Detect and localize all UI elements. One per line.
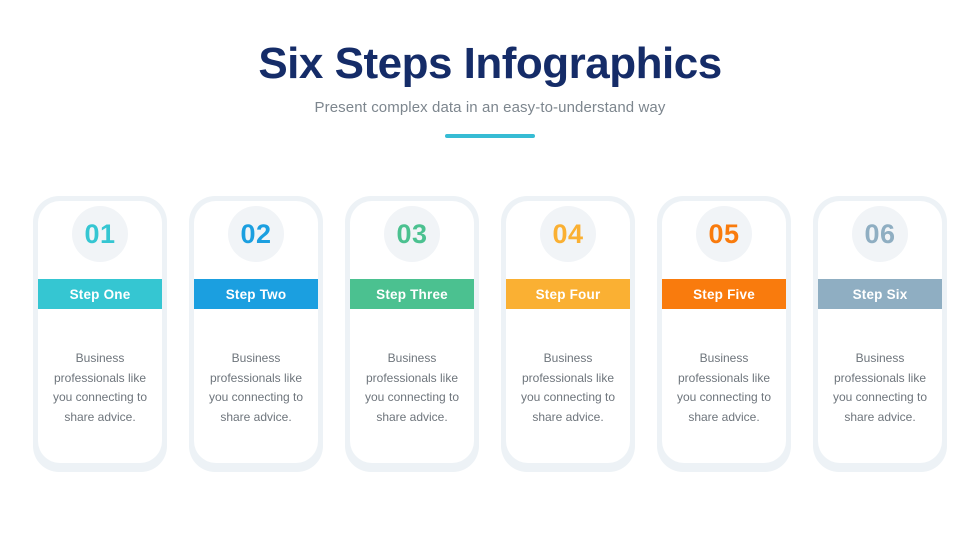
- step-title: Step Six: [853, 287, 908, 302]
- step-card-inner: 06 Step Six Business professionals like …: [818, 201, 942, 463]
- step-description: Business professionals like you connecti…: [669, 349, 779, 427]
- step-number-badge: 01: [72, 206, 128, 262]
- step-number-badge: 02: [228, 206, 284, 262]
- step-banner[interactable]: Step Two: [194, 279, 318, 309]
- step-description: Business professionals like you connecti…: [825, 349, 935, 427]
- step-card-inner: 01 Step One Business professionals like …: [38, 201, 162, 463]
- page-subtitle: Present complex data in an easy-to-under…: [0, 98, 980, 118]
- step-number: 03: [396, 221, 427, 248]
- step-number-badge: 03: [384, 206, 440, 262]
- step-description: Business professionals like you connecti…: [357, 349, 467, 427]
- slide-header: Six Steps Infographics Present complex d…: [0, 38, 980, 138]
- step-number-badge: 05: [696, 206, 752, 262]
- step-card-4[interactable]: 04 Step Four Business professionals like…: [501, 196, 635, 472]
- step-description: Business professionals like you connecti…: [45, 349, 155, 427]
- step-card-inner: 02 Step Two Business professionals like …: [194, 201, 318, 463]
- step-number: 04: [552, 221, 583, 248]
- step-banner[interactable]: Step One: [38, 279, 162, 309]
- step-banner[interactable]: Step Three: [350, 279, 474, 309]
- step-card-inner: 05 Step Five Business professionals like…: [662, 201, 786, 463]
- step-card-1[interactable]: 01 Step One Business professionals like …: [33, 196, 167, 472]
- step-title: Step Three: [376, 287, 448, 302]
- step-title: Step Two: [226, 287, 287, 302]
- step-card-2[interactable]: 02 Step Two Business professionals like …: [189, 196, 323, 472]
- step-number-badge: 04: [540, 206, 596, 262]
- infographic-slide: Six Steps Infographics Present complex d…: [0, 0, 980, 551]
- step-number-badge: 06: [852, 206, 908, 262]
- title-divider: [445, 134, 535, 138]
- page-title: Six Steps Infographics: [0, 38, 980, 90]
- step-card-inner: 03 Step Three Business professionals lik…: [350, 201, 474, 463]
- step-title: Step Four: [536, 287, 601, 302]
- step-number: 06: [864, 221, 895, 248]
- step-card-6[interactable]: 06 Step Six Business professionals like …: [813, 196, 947, 472]
- step-number: 02: [240, 221, 271, 248]
- step-number: 01: [84, 221, 115, 248]
- step-banner[interactable]: Step Five: [662, 279, 786, 309]
- step-card-5[interactable]: 05 Step Five Business professionals like…: [657, 196, 791, 472]
- title-divider-wrap: [0, 134, 980, 138]
- step-title: Step Five: [693, 287, 755, 302]
- step-card-3[interactable]: 03 Step Three Business professionals lik…: [345, 196, 479, 472]
- step-card-inner: 04 Step Four Business professionals like…: [506, 201, 630, 463]
- steps-row: 01 Step One Business professionals like …: [33, 196, 947, 472]
- step-number: 05: [708, 221, 739, 248]
- step-title: Step One: [70, 287, 131, 302]
- step-description: Business professionals like you connecti…: [201, 349, 311, 427]
- step-banner[interactable]: Step Six: [818, 279, 942, 309]
- step-description: Business professionals like you connecti…: [513, 349, 623, 427]
- step-banner[interactable]: Step Four: [506, 279, 630, 309]
